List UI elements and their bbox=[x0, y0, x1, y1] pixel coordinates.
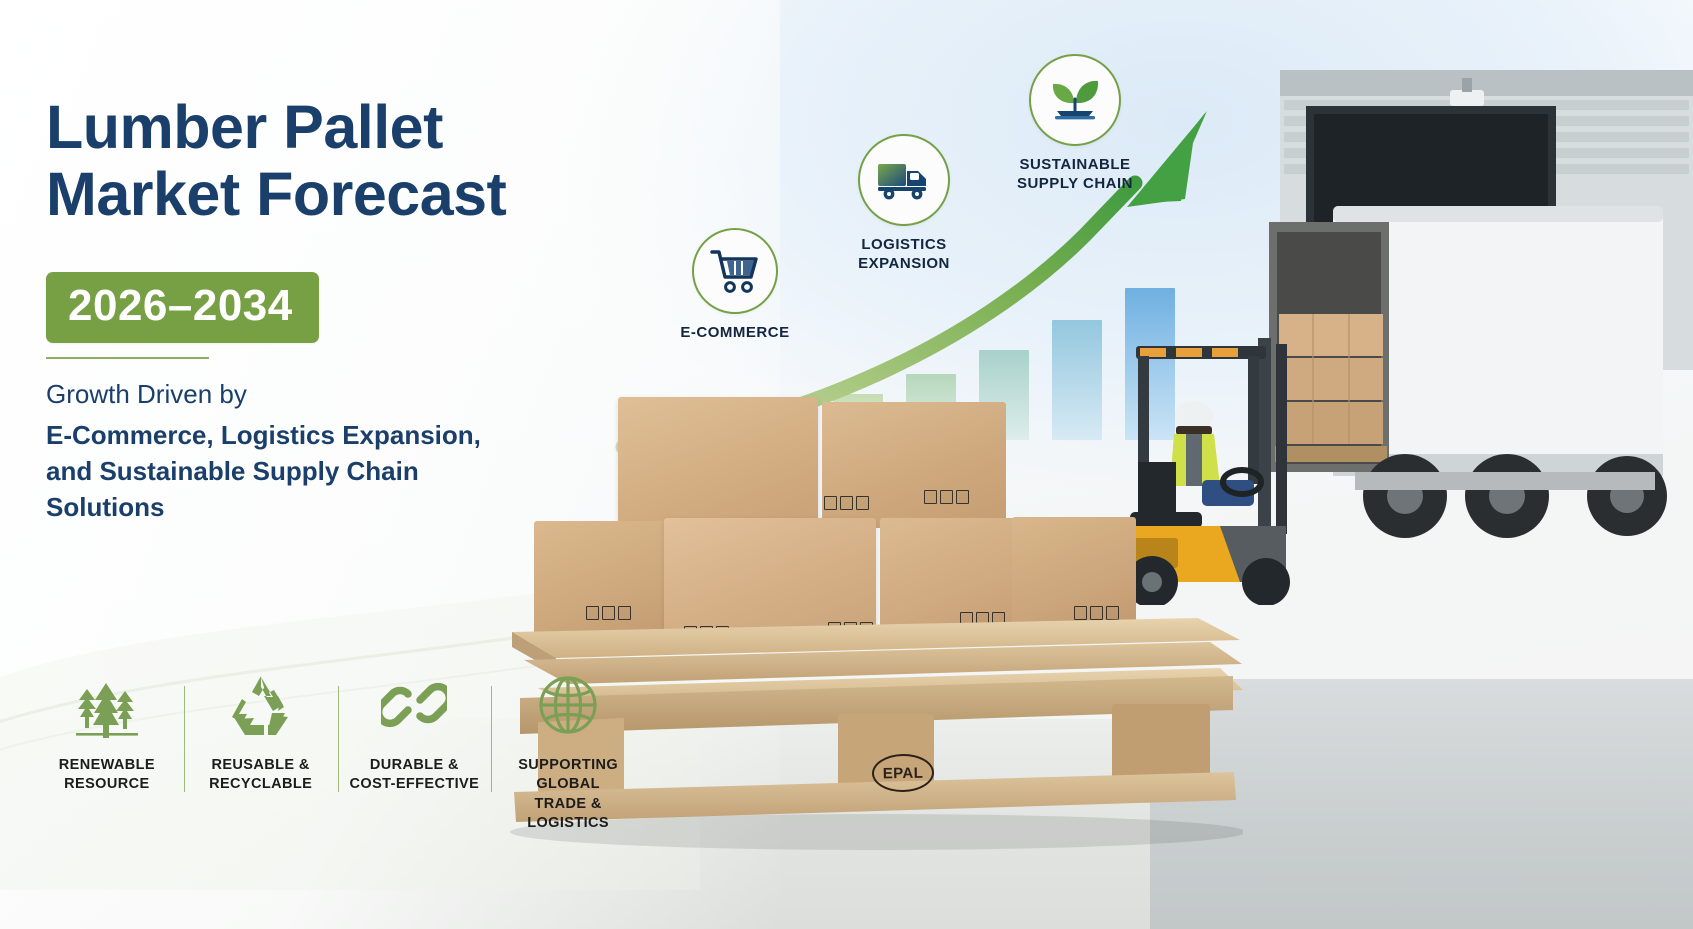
divider-rule bbox=[46, 357, 209, 359]
shipping-symbols bbox=[924, 490, 969, 504]
badge-circle bbox=[1029, 54, 1121, 146]
delivery-truck-icon bbox=[876, 158, 932, 202]
badge-label: E-COMMERCE bbox=[663, 324, 807, 343]
feature-label: RENEWABLE RESOURCE bbox=[59, 756, 155, 795]
infographic-banner: E-COMMERCE LOGISTICS EXPANSION bbox=[0, 0, 1693, 929]
globe-icon bbox=[536, 668, 600, 742]
carton bbox=[618, 397, 818, 529]
subtitle-lead: Growth Driven by bbox=[46, 378, 247, 411]
recycle-icon bbox=[228, 668, 294, 742]
chain-link-icon bbox=[381, 668, 447, 742]
seedling-plant-icon bbox=[1047, 75, 1103, 125]
badge-label: LOGISTICS EXPANSION bbox=[824, 236, 984, 274]
badge-circle bbox=[692, 228, 778, 314]
year-range-badge: 2026–2034 bbox=[46, 272, 319, 343]
shipping-symbols bbox=[824, 496, 869, 510]
pine-trees-icon bbox=[72, 668, 142, 742]
subtitle-drivers: E-Commerce, Logistics Expansion, and Sus… bbox=[46, 418, 481, 526]
feature-strip: RENEWABLE RESOURCE REUSABLE & RECYCLABLE bbox=[30, 668, 645, 833]
feature-label: REUSABLE & RECYCLABLE bbox=[209, 756, 312, 795]
shopping-cart-icon bbox=[710, 247, 760, 295]
badge-circle bbox=[858, 134, 950, 226]
feature-reusable-recyclable[interactable]: REUSABLE & RECYCLABLE bbox=[184, 668, 338, 795]
feature-label: DURABLE & COST-EFFECTIVE bbox=[350, 756, 480, 795]
feature-durable-cost-effective[interactable]: DURABLE & COST-EFFECTIVE bbox=[338, 668, 492, 795]
feature-global-trade-logistics[interactable]: SUPPORTING GLOBAL TRADE & LOGISTICS bbox=[491, 668, 645, 834]
headline-line-1: Lumber Pallet bbox=[46, 93, 443, 161]
feature-renewable-resource[interactable]: RENEWABLE RESOURCE bbox=[30, 668, 184, 795]
badge-label: SUSTAINABLE SUPPLY CHAIN bbox=[980, 156, 1170, 194]
page-title: Lumber Pallet Market Forecast bbox=[46, 94, 506, 228]
driver-badge-sustainable[interactable]: SUSTAINABLE SUPPLY CHAIN bbox=[980, 54, 1170, 194]
driver-badge-ecommerce[interactable]: E-COMMERCE bbox=[663, 228, 807, 343]
feature-label: SUPPORTING GLOBAL TRADE & LOGISTICS bbox=[497, 756, 639, 834]
headline-line-2: Market Forecast bbox=[46, 161, 506, 228]
driver-badge-logistics[interactable]: LOGISTICS EXPANSION bbox=[824, 134, 984, 274]
